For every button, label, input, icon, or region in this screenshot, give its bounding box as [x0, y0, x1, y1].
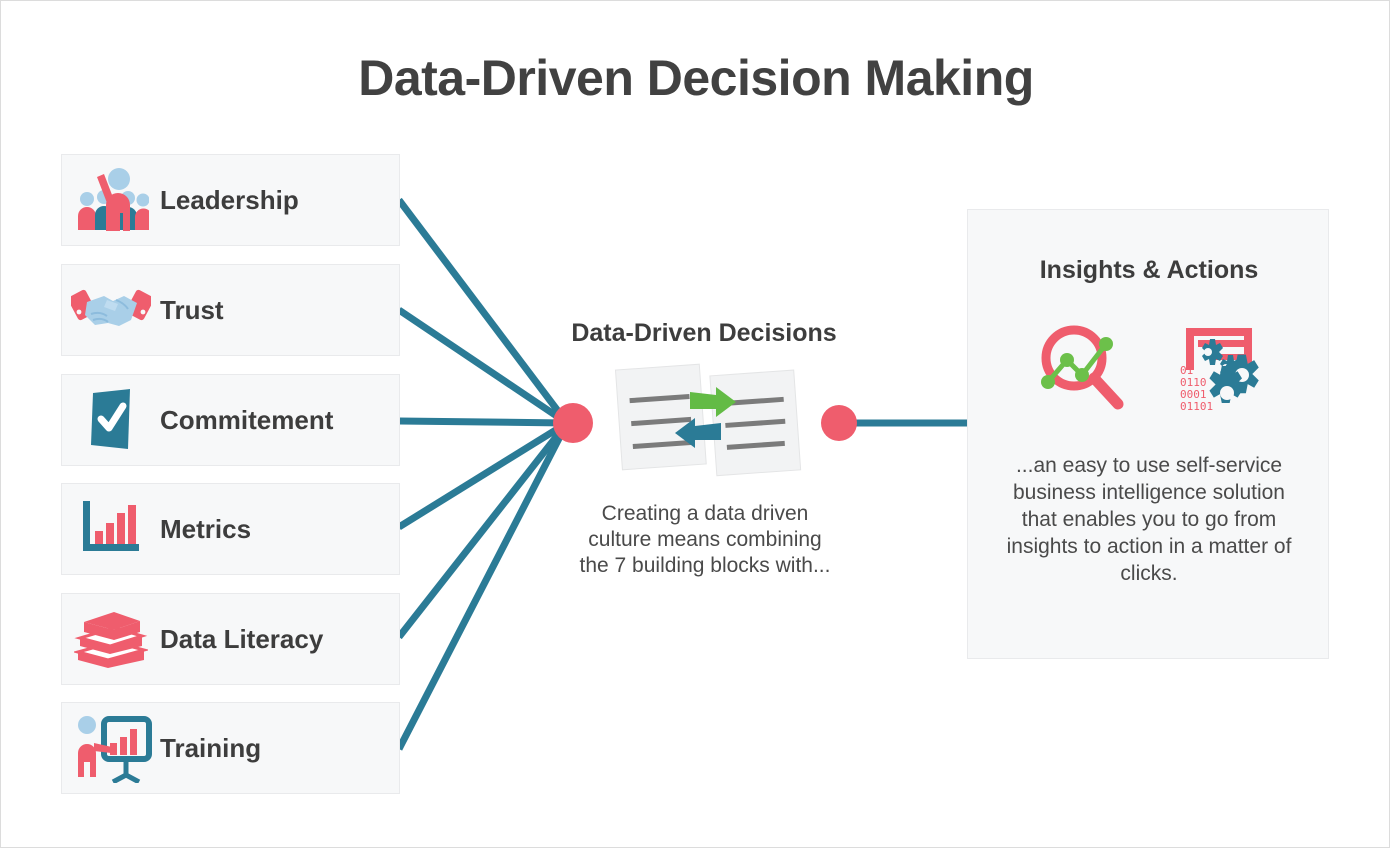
block-card-data-literacy[interactable]: Data Literacy: [61, 593, 400, 685]
presenter-board-icon: [62, 713, 160, 783]
block-label-metrics: Metrics: [160, 514, 251, 545]
handshake-icon: [62, 275, 160, 345]
block-label-commitement: Commitement: [160, 405, 333, 436]
connector-training: [399, 423, 567, 749]
leadership-people-icon: [62, 165, 160, 235]
connector-commitement: [399, 421, 567, 423]
stacked-books-icon: [62, 604, 160, 674]
block-label-training: Training: [160, 733, 261, 764]
decision-hub-node: [553, 403, 593, 443]
svg-text:01101: 01101: [1180, 400, 1213, 412]
connector-trust: [399, 310, 567, 423]
insights-title: Insights & Actions: [968, 256, 1330, 285]
center-caption: Creating a data driven culture means com…: [571, 501, 839, 579]
connector-metrics: [399, 423, 567, 527]
block-card-leadership[interactable]: Leadership: [61, 154, 400, 246]
magnifier-linechart-icon: [1034, 320, 1130, 417]
block-label-leadership: Leadership: [160, 185, 299, 216]
bar-chart-icon: [62, 494, 160, 564]
insights-output-node: [821, 405, 857, 441]
block-label-data-literacy: Data Literacy: [160, 624, 323, 655]
block-label-trust: Trust: [160, 295, 224, 326]
insights-icon-row: 01 0110 0001 01101: [968, 318, 1330, 418]
insights-panel: Insights & Actions: [967, 209, 1329, 659]
documents-exchange-arrows-icon: [613, 359, 803, 479]
block-card-commitement[interactable]: Commitement: [61, 374, 400, 466]
block-card-trust[interactable]: Trust: [61, 264, 400, 356]
center-heading: Data-Driven Decisions: [559, 319, 849, 348]
checkmark-document-icon: [62, 385, 160, 455]
block-card-metrics[interactable]: Metrics: [61, 483, 400, 575]
gears-binary-report-icon: 01 0110 0001 01101: [1172, 320, 1264, 417]
block-card-training[interactable]: Training: [61, 702, 400, 794]
diagram-canvas: Data-Driven Decision Making: [0, 0, 1390, 848]
page-title: Data-Driven Decision Making: [1, 49, 1390, 107]
connector-data-literacy: [399, 423, 567, 637]
insights-description: ...an easy to use self-service business …: [994, 452, 1304, 587]
connector-leadership: [399, 200, 567, 423]
